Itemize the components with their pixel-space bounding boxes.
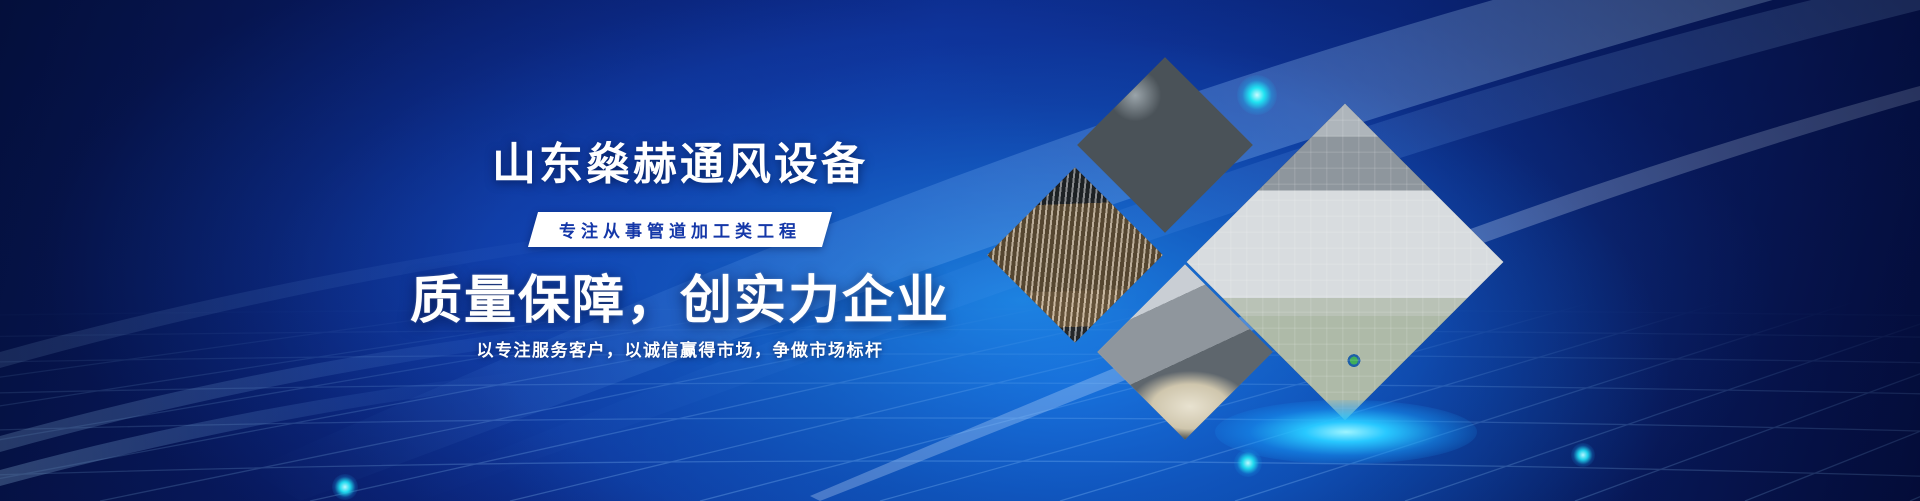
photo-collage	[0, 0, 1920, 501]
hero-headline: 质量保障，创实力企业	[400, 258, 960, 333]
service-scope-badge-label: 专注从事管道加工类工程	[559, 217, 801, 242]
tagline-badge-wrapper: 专注从事管道加工类工程	[420, 212, 940, 247]
hero-banner: 山东燊赫通风设备 专注从事管道加工类工程 质量保障，创实力企业 以专注服务客户，…	[0, 0, 1920, 501]
company-title: 山东燊赫通风设备	[420, 128, 940, 192]
hero-tagline: 以专注服务客户，以诚信赢得市场，争做市场标杆	[400, 336, 960, 361]
service-scope-badge: 专注从事管道加工类工程	[528, 212, 832, 247]
